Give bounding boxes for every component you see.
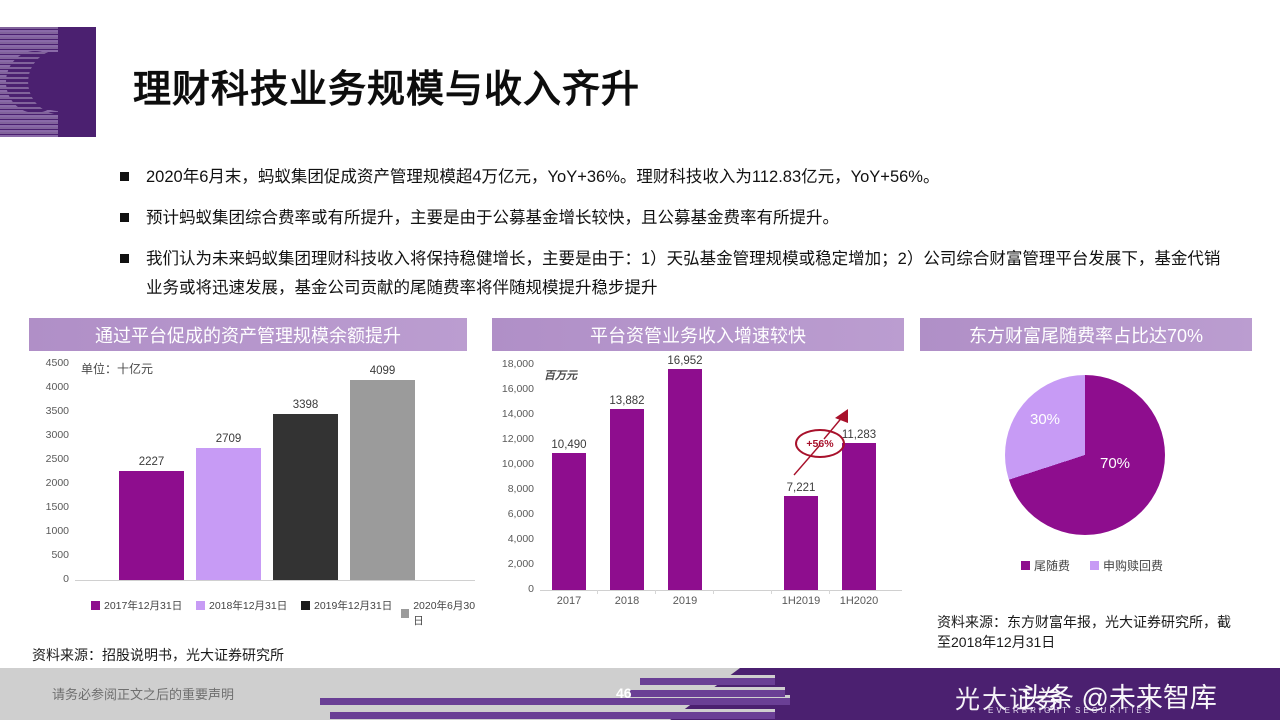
chart1-ytick: 4000 <box>29 381 69 393</box>
chart1-axis-line <box>75 580 475 581</box>
footer-disclaimer: 请务必参阅正文之后的重要声明 <box>52 684 234 703</box>
chart2-value-label: 16,952 <box>648 355 722 367</box>
chart2-xlabel-1h2019: 1H2019 <box>771 595 831 607</box>
chart3-slice-label-70: 70% <box>1100 455 1130 472</box>
chart2-growth-callout: +56% <box>795 429 845 458</box>
chart3-pie <box>1005 375 1165 535</box>
source-note-right: 资料来源：东方财富年报，光大证券研究所，截至2018年12月31日 <box>937 612 1237 652</box>
chart2-value-label: 10,490 <box>532 439 606 451</box>
chart1-ytick: 2000 <box>29 477 69 489</box>
chart2-ytick: 4,000 <box>492 533 534 545</box>
chart2-ytick: 16,000 <box>492 383 534 395</box>
chart2-ytick: 10,000 <box>492 458 534 470</box>
bullet-square-icon <box>120 172 129 181</box>
legend-swatch <box>1021 561 1030 570</box>
footer-band <box>630 687 785 697</box>
chart1-bar-2020 <box>350 380 415 580</box>
chart2-xtick <box>713 590 714 594</box>
chart1-ytick: 3500 <box>29 405 69 417</box>
chart1-bar-2018 <box>196 448 261 580</box>
chart1-ytick: 1000 <box>29 525 69 537</box>
title-divider <box>104 50 106 112</box>
legend-label: 2017年12月31日 <box>104 598 182 613</box>
list-item: 预计蚂蚁集团综合费率或有所提升，主要是由于公募基金增长较快，且公募基金费率有所提… <box>120 204 1250 233</box>
chart1-ytick: 500 <box>29 549 69 561</box>
chart2-value-label: 13,882 <box>590 395 664 407</box>
chart1-value-label: 2227 <box>119 456 184 468</box>
chart2-ytick: 0 <box>492 583 534 595</box>
chart2-title: 平台资管业务收入增速较快 <box>492 318 904 351</box>
chart2-body: 百万元 18,000 16,000 14,000 12,000 10,000 8… <box>492 355 912 625</box>
chart2-xlabel-2019: 2019 <box>655 595 715 607</box>
chart1-value-label: 4099 <box>350 365 415 377</box>
chart1-title: 通过平台促成的资产管理规模余额提升 <box>29 318 467 351</box>
chart2-xtick <box>655 590 656 594</box>
bullet-text: 2020年6月末，蚂蚁集团促成资产管理规模超4万亿元，YoY+36%。理财科技收… <box>146 163 939 192</box>
bullet-list: 2020年6月末，蚂蚁集团促成资产管理规模超4万亿元，YoY+36%。理财科技收… <box>120 163 1250 315</box>
chart1-ytick: 2500 <box>29 453 69 465</box>
list-item: 我们认为未来蚂蚁集团理财科技收入将保持稳健增长，主要是由于：1）天弘基金管理规模… <box>120 245 1250 303</box>
chart3-body: 70% 30% 尾随费 申购赎回费 <box>920 355 1256 605</box>
chart3-legend-item-shengou: 申购赎回费 <box>1090 557 1163 574</box>
chart1-legend-item-2019: 2019年12月31日 <box>301 598 392 613</box>
chart3-slice-label-30: 30% <box>1030 411 1060 428</box>
chart2-axis-line <box>540 590 902 591</box>
legend-swatch <box>1090 561 1099 570</box>
page-title: 理财科技业务规模与收入齐升 <box>133 58 640 113</box>
chart1-legend-item-2017: 2017年12月31日 <box>91 598 182 613</box>
chart2-xtick <box>771 590 772 594</box>
bullet-square-icon <box>120 254 129 263</box>
legend-label: 2019年12月31日 <box>314 598 392 613</box>
legend-label: 2020年6月30日 <box>413 598 479 628</box>
legend-swatch <box>196 601 205 610</box>
chart2-xtick <box>597 590 598 594</box>
chart2-ytick: 14,000 <box>492 408 534 420</box>
chart2-bar-2017 <box>552 453 586 590</box>
chart3-legend-item-weisui: 尾随费 <box>1021 557 1070 574</box>
page-number: 46 <box>616 685 632 701</box>
chart1-legend-item-2018: 2018年12月31日 <box>196 598 287 613</box>
chart2-ytick: 2,000 <box>492 558 534 570</box>
legend-swatch <box>91 601 100 610</box>
chart2-ytick: 6,000 <box>492 508 534 520</box>
chart1-bar-2019 <box>273 414 338 580</box>
chart3-title: 东方财富尾随费率占比达70% <box>920 318 1252 351</box>
footer-band <box>640 675 775 685</box>
bullet-text: 我们认为未来蚂蚁集团理财科技收入将保持稳健增长，主要是由于：1）天弘基金管理规模… <box>146 245 1236 303</box>
chart2-bar-2018 <box>610 409 644 590</box>
chart2-bar-2019 <box>668 369 702 590</box>
chart2-ytick: 8,000 <box>492 483 534 495</box>
chart2-unit-label: 百万元 <box>544 367 577 383</box>
legend-label: 申购赎回费 <box>1103 557 1163 574</box>
chart2-ytick: 18,000 <box>492 358 534 370</box>
chart2-bar-1h2019 <box>784 496 818 590</box>
chart1-value-label: 2709 <box>196 433 261 445</box>
chart1-value-label: 3398 <box>273 399 338 411</box>
legend-label: 尾随费 <box>1034 557 1070 574</box>
chart2-value-label: 7,221 <box>764 482 838 494</box>
legend-swatch <box>301 601 310 610</box>
chart1-body: 单位：十亿元 4500 4000 3500 3000 2500 2000 150… <box>29 355 479 625</box>
source-note-left: 资料来源：招股说明书，光大证券研究所 <box>32 645 452 665</box>
bullet-text: 预计蚂蚁集团综合费率或有所提升，主要是由于公募基金增长较快，且公募基金费率有所提… <box>146 204 839 233</box>
slide-canvas: 理财科技业务规模与收入齐升 2020年6月末，蚂蚁集团促成资产管理规模超4万亿元… <box>0 0 1280 720</box>
chart1-legend-item-2020: 2020年6月30日 <box>401 598 479 628</box>
chart1-ytick: 4500 <box>29 357 69 369</box>
chart2-xlabel-1h2020: 1H2020 <box>829 595 889 607</box>
chart2-ytick: 12,000 <box>492 433 534 445</box>
legend-label: 2018年12月31日 <box>209 598 287 613</box>
legend-swatch <box>401 609 409 618</box>
logo-stripes <box>0 27 58 137</box>
chart1-bar-2017 <box>119 471 184 580</box>
chart2-xlabel-2017: 2017 <box>539 595 599 607</box>
chart1-ytick: 0 <box>29 573 69 585</box>
brand-logo-mark <box>0 27 96 137</box>
watermark-text: 头条 @未来智库 <box>1020 676 1217 715</box>
chart1-unit-label: 单位：十亿元 <box>81 360 153 377</box>
chart2-xtick <box>829 590 830 594</box>
bullet-square-icon <box>120 213 129 222</box>
list-item: 2020年6月末，蚂蚁集团促成资产管理规模超4万亿元，YoY+36%。理财科技收… <box>120 163 1250 192</box>
chart1-ytick: 3000 <box>29 429 69 441</box>
chart2-xlabel-2018: 2018 <box>597 595 657 607</box>
footer-band <box>330 709 775 719</box>
chart1-ytick: 1500 <box>29 501 69 513</box>
